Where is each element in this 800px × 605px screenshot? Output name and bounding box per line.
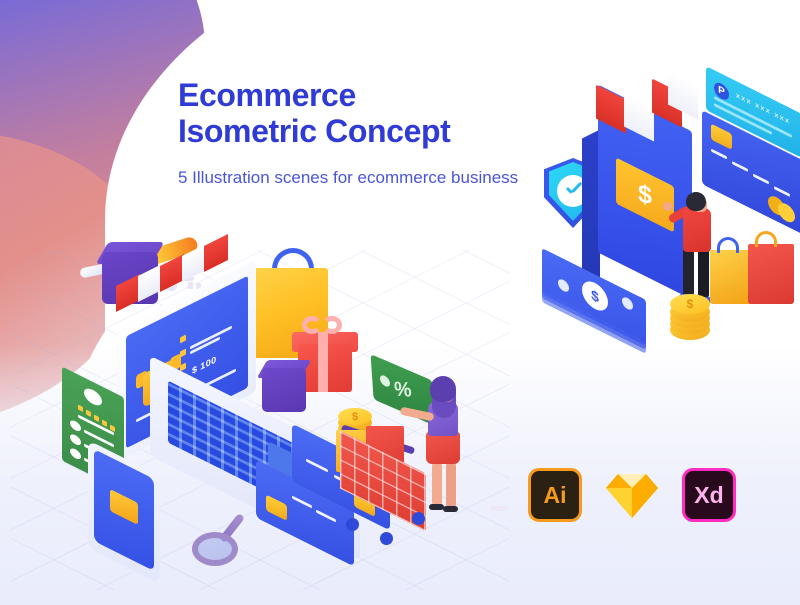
coin-dollar-symbol: $ (670, 294, 710, 314)
coin-dollar-symbol-small: $ (338, 408, 372, 425)
store-awning-red-3 (204, 234, 228, 272)
page-title-line-1: Ecommerce (178, 78, 538, 114)
gift-bow-left (302, 316, 322, 334)
person-leg-right (698, 248, 709, 298)
shopper-skirt (426, 432, 460, 464)
parcel-box (262, 368, 306, 412)
online-payment-scene: $ P xxx xxx xxx (520, 78, 800, 368)
shopper-shoe-left (429, 504, 444, 510)
adobe-illustrator-label: Ai (544, 482, 567, 509)
person-head (686, 192, 706, 211)
money-stack: $ (542, 274, 652, 326)
person-hand (663, 202, 672, 211)
person-leg-left (683, 248, 694, 296)
shopper-shoe-right (443, 506, 458, 512)
online-store-scene: $ 100 (40, 240, 510, 590)
card-mastercard-circle-b (778, 200, 795, 225)
poster-canvas: Ecommerce Isometric Concept 5 Illustrati… (0, 0, 800, 605)
card-chip-icon (711, 124, 732, 150)
headline-block: Ecommerce Isometric Concept 5 Illustrati… (178, 78, 538, 190)
shopper-leg-right (446, 462, 456, 508)
shopping-bag-red (748, 244, 794, 304)
cart-wheel-2 (380, 532, 393, 545)
gift-bow-right (322, 316, 342, 334)
dollar-symbol: $ (638, 179, 652, 211)
page-subtitle: 5 Illustration scenes for ecommerce busi… (178, 166, 538, 190)
person-torso (683, 208, 711, 252)
gift-ribbon (318, 332, 328, 392)
page-title-line-2: Isometric Concept (178, 114, 538, 150)
search-magnifier-icon (192, 532, 238, 566)
adobe-xd-label: Xd (694, 482, 723, 509)
cart-wheel-3 (412, 512, 425, 525)
page-title: Ecommerce Isometric Concept (178, 78, 538, 150)
sketch-diamond-icon (604, 468, 660, 522)
shopper-hair (430, 376, 456, 402)
software-badges: Ai Xd (528, 468, 736, 522)
cart-wheel-1 (346, 518, 359, 531)
check-icon (563, 180, 583, 200)
adobe-illustrator-badge[interactable]: Ai (528, 468, 582, 522)
adobe-xd-badge[interactable]: Xd (682, 468, 736, 522)
sketch-badge[interactable] (604, 468, 660, 522)
shopper-leg-left (432, 462, 442, 506)
discount-percent-symbol: % (394, 378, 413, 403)
